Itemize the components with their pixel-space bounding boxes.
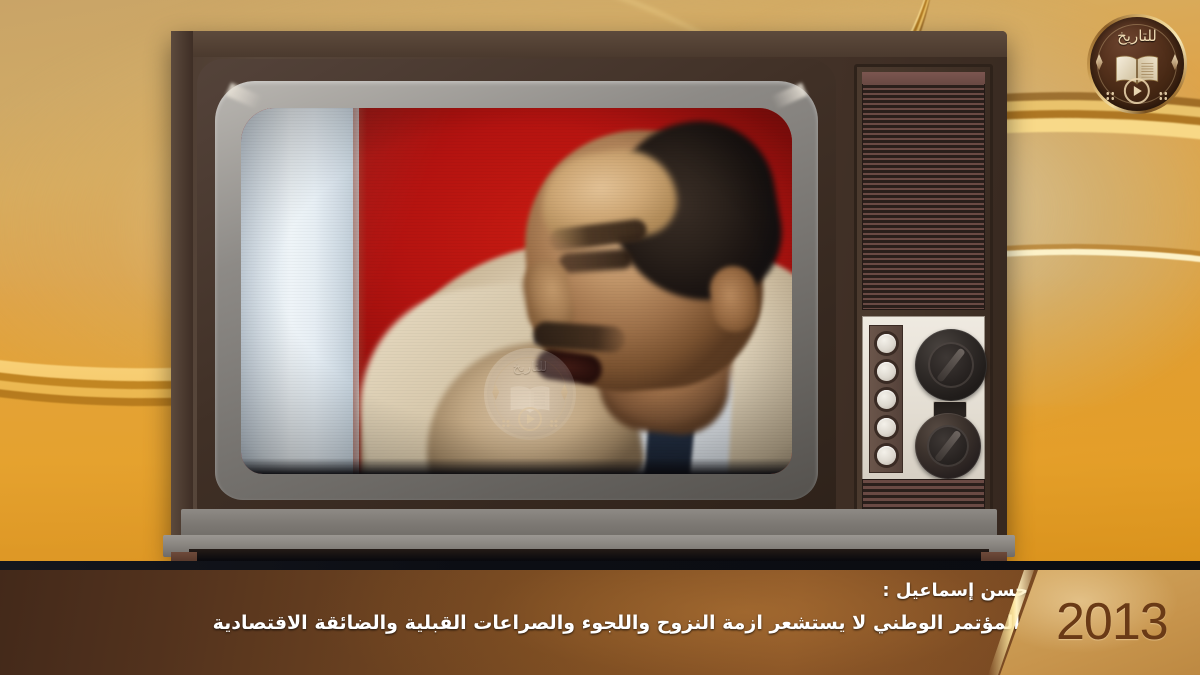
banner-top-strip: [0, 561, 1200, 570]
tv-screen-bezel: للتاريخ: [197, 59, 836, 522]
channel-logo-face: للتاريخ: [1090, 17, 1184, 111]
logo-dots-right: [1159, 91, 1168, 100]
fine-tune-knob[interactable]: [915, 413, 981, 479]
logo-dots-left: [1106, 91, 1115, 100]
channel-button-4[interactable]: [877, 418, 896, 437]
channel-button-1[interactable]: [877, 334, 896, 353]
channel-logo[interactable]: للتاريخ: [1087, 14, 1187, 114]
screen-vignette: [241, 108, 792, 474]
year-label: 2013: [1056, 591, 1168, 651]
tv-speaker-grille: [862, 72, 985, 310]
tv-cabinet-top-edge: [171, 31, 1007, 57]
channel-button-2[interactable]: [877, 362, 896, 381]
channel-button-3[interactable]: [877, 390, 896, 409]
channel-button-5[interactable]: [877, 446, 896, 465]
tv-picture-area: للتاريخ: [241, 108, 792, 474]
tv-button-strip: [869, 325, 903, 473]
tv-screen-inner-frame: للتاريخ: [215, 81, 818, 500]
channel-tuner-knob[interactable]: [915, 329, 987, 401]
tv-cabinet-left-edge: [171, 31, 193, 559]
channel-logo-label: للتاريخ: [1090, 27, 1184, 45]
tv-control-plate: [862, 316, 985, 482]
tv-speaker-grille-top-band: [862, 72, 985, 84]
screen-bottom-shadow: [241, 458, 792, 474]
tv-right-panel: [854, 64, 993, 520]
retro-television-set: للتاريخ: [171, 31, 1007, 559]
speaker-name: حسن إسماعيل :: [14, 578, 1186, 604]
tv-lower-grille: [862, 479, 985, 512]
screenshot-root: للتاريخ: [0, 0, 1200, 675]
